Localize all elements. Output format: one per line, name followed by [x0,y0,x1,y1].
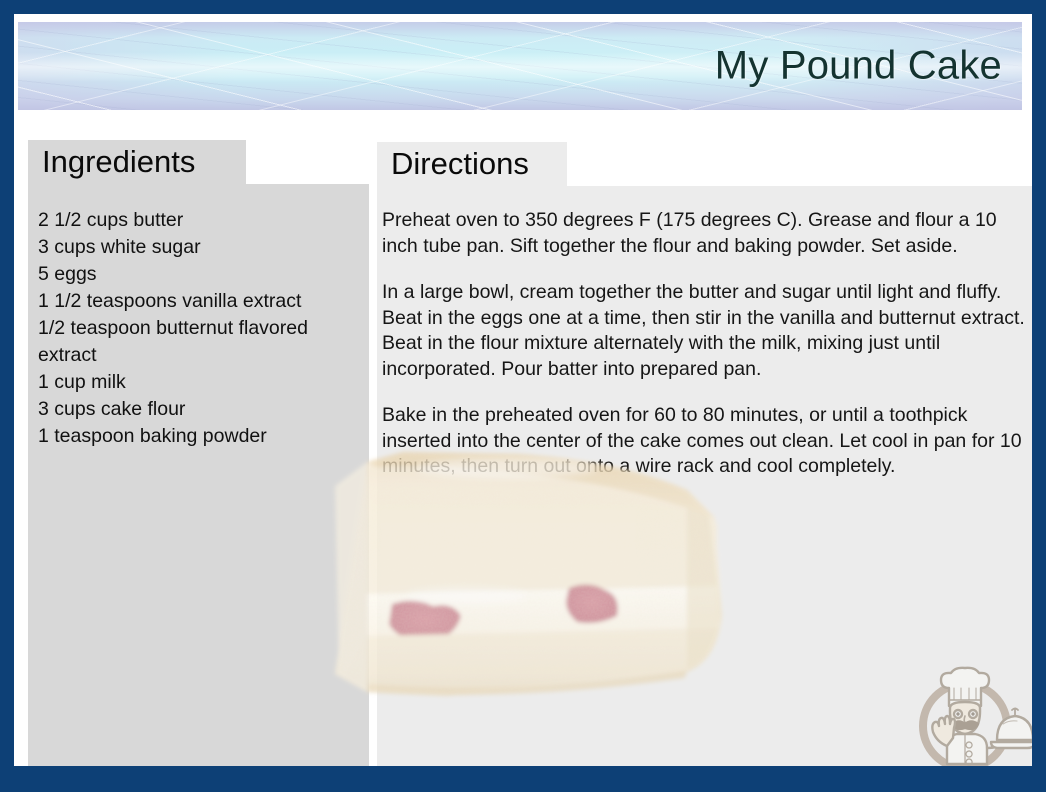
ingredients-heading: Ingredients [28,140,246,188]
directions-text: Preheat oven to 350 degrees F (175 degre… [382,208,1030,480]
list-item: 3 cups cake flour [38,396,358,423]
directions-paragraph: In a large bowl, cream together the butt… [382,280,1030,382]
recipe-card-page: My Pound Cake Ingredients 2 1/2 cups but… [0,0,1046,792]
directions-heading: Directions [377,142,567,190]
list-item: 1/2 teaspoon butternut flavored extract [38,315,358,369]
list-item: 1 1/2 teaspoons vanilla extract [38,288,358,315]
header-banner: My Pound Cake [18,22,1022,110]
directions-paragraph: Preheat oven to 350 degrees F (175 degre… [382,208,1030,259]
list-item: 1 teaspoon baking powder [38,423,358,450]
list-item: 2 1/2 cups butter [38,207,358,234]
ingredients-list: 2 1/2 cups butter 3 cups white sugar 5 e… [38,207,358,450]
recipe-card: My Pound Cake Ingredients 2 1/2 cups but… [14,14,1032,766]
list-item: 1 cup milk [38,369,358,396]
directions-paragraph: Bake in the preheated oven for 60 to 80 … [382,403,1030,480]
list-item: 5 eggs [38,261,358,288]
page-title: My Pound Cake [715,44,1002,89]
list-item: 3 cups white sugar [38,234,358,261]
